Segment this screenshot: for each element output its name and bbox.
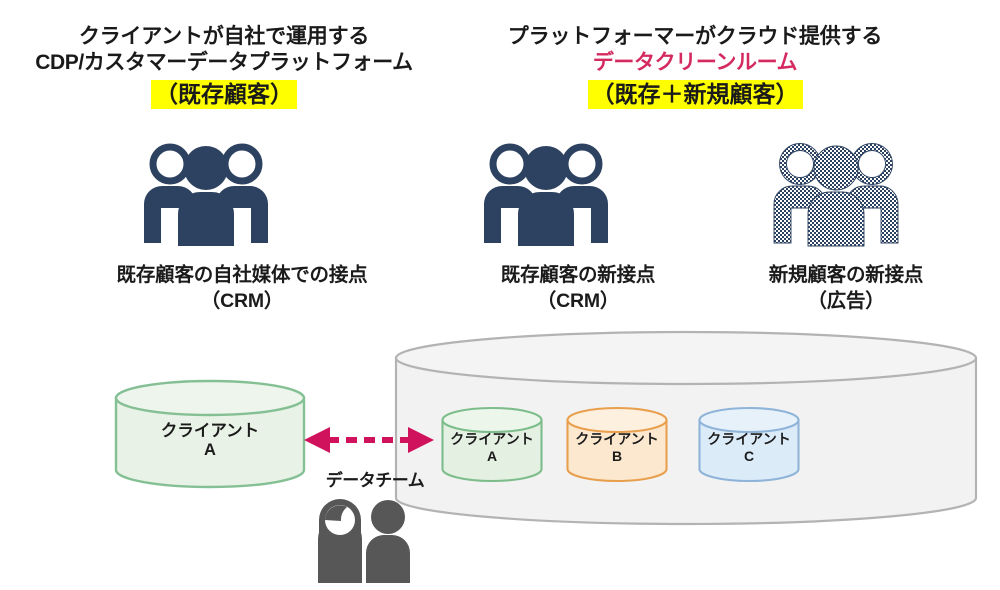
header-left-line2: CDP/カスタマーデータプラットフォーム: [0, 50, 448, 76]
cylinder-client-a-cdp: クライアント A: [113, 378, 307, 490]
data-team-label: データチーム: [295, 466, 455, 491]
header-left: クライアントが自社で運用する CDP/カスタマーデータプラットフォーム （既存顧…: [0, 24, 448, 109]
header-right-line3: （既存＋新規顧客）: [470, 80, 920, 109]
caption-right-line1: 新規顧客の新接点: [706, 262, 986, 288]
header-right: プラットフォーマーがクラウド提供する データクリーンルーム （既存＋新規顧客）: [470, 24, 920, 109]
caption-right-line2: （広告）: [706, 288, 986, 314]
data-team-figures-icon: [308, 495, 418, 590]
caption-left: 既存顧客の自社媒体での接点 （CRM）: [36, 262, 448, 314]
cylinder-client-c-dcr: クライアント C: [697, 406, 801, 484]
bidirectional-dashed-arrow-icon: [302, 424, 436, 461]
people-group-dotted-icon: [768, 138, 904, 250]
header-left-highlight: （既存顧客）: [151, 80, 297, 109]
cylinder-client-b-dcr: クライアント B: [565, 406, 669, 484]
header-left-line1: クライアントが自社で運用する: [0, 24, 448, 50]
caption-left-line2: （CRM）: [36, 288, 448, 314]
caption-middle: 既存顧客の新接点 （CRM）: [438, 262, 718, 314]
caption-right: 新規顧客の新接点 （広告）: [706, 262, 986, 314]
people-group-solid-icon: [138, 138, 274, 250]
caption-middle-line1: 既存顧客の新接点: [438, 262, 718, 288]
header-right-line1: プラットフォーマーがクラウド提供する: [470, 24, 920, 50]
caption-left-line1: 既存顧客の自社媒体での接点: [36, 262, 448, 288]
caption-middle-line2: （CRM）: [438, 288, 718, 314]
header-right-highlight: （既存＋新規顧客）: [588, 80, 803, 109]
people-group-solid-icon: [478, 138, 614, 250]
header-right-line2: データクリーンルーム: [470, 50, 920, 76]
header-left-line3: （既存顧客）: [0, 80, 448, 109]
cylinder-client-a-dcr: クライアント A: [440, 406, 544, 484]
